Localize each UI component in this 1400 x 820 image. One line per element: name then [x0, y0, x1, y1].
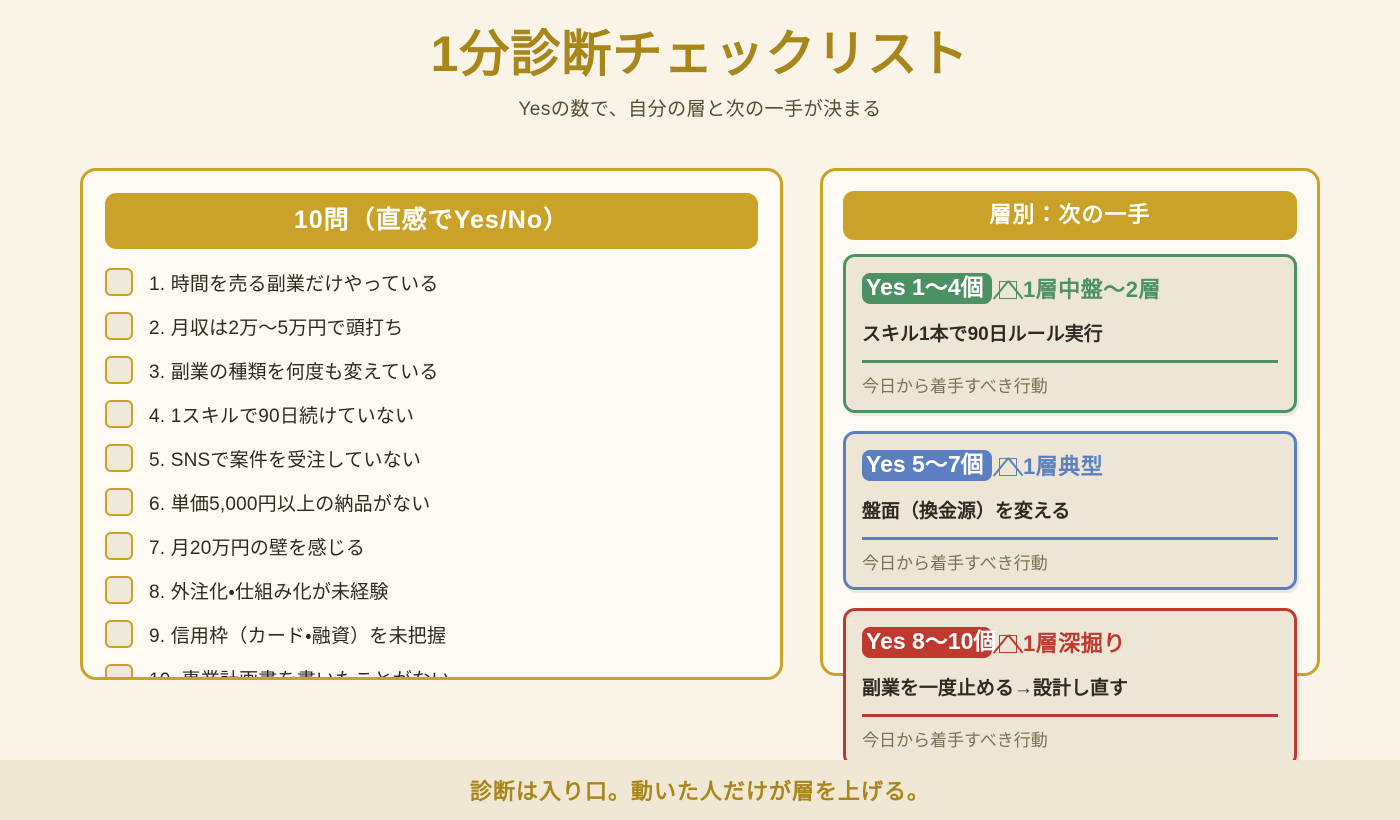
- tier-caption: 今日から着手すべき行動: [862, 372, 1278, 397]
- tier-badge-row: Yes 5〜7個1層典型: [862, 448, 1278, 482]
- page-subtitle: Yesの数で、自分の層と次の一手が決まる: [0, 94, 1400, 121]
- checkbox-icon[interactable]: [105, 268, 133, 296]
- checklist-item[interactable]: 8. 外注化・仕組み化が未経験: [105, 568, 758, 612]
- checklist-panel: 10問（直感でYes/No） 1. 時間を売る副業だけやっている2. 月収は2万…: [80, 168, 783, 680]
- tier-name: 1層深掘り: [999, 626, 1126, 658]
- tier-caption: 今日から着手すべき行動: [862, 726, 1278, 751]
- checklist-item-label: 2. 月収は2万〜5万円で頭打ち: [149, 313, 403, 340]
- checkbox-icon[interactable]: [105, 532, 133, 560]
- tier-divider: [862, 537, 1278, 540]
- tier-name-label: 1層中盤〜2層: [1023, 277, 1161, 302]
- checklist-item-label: 7. 月20万円の壁を感じる: [149, 533, 365, 560]
- tier-name: 1層中盤〜2層: [999, 272, 1161, 304]
- tier-card[interactable]: Yes 1〜4個1層中盤〜2層スキル1本で90日ルール実行今日から着手すべき行動: [843, 254, 1297, 413]
- tier-name-label: 1層深掘り: [1023, 631, 1126, 656]
- tier-card[interactable]: Yes 8〜10個1層深掘り副業を一度止める→設計し直す今日から着手すべき行動: [843, 608, 1297, 767]
- footer-band: 診断は入り口。動いた人だけが層を上げる。: [0, 760, 1400, 820]
- tier-badge-row: Yes 8〜10個1層深掘り: [862, 625, 1278, 659]
- tier-cards: Yes 1〜4個1層中盤〜2層スキル1本で90日ルール実行今日から着手すべき行動…: [843, 254, 1297, 767]
- checklist-item[interactable]: 9. 信用枠（カード・融資）を未把握: [105, 612, 758, 656]
- tier-badge: Yes 5〜7個: [862, 450, 992, 481]
- missing-glyph-icon: [999, 458, 1017, 476]
- checkbox-icon[interactable]: [105, 400, 133, 428]
- tier-divider: [862, 360, 1278, 363]
- board: 10問（直感でYes/No） 1. 時間を売る副業だけやっている2. 月収は2万…: [0, 168, 1400, 688]
- checklist-item[interactable]: 5. SNSで案件を受注していない: [105, 436, 758, 480]
- checklist-item-label: 9. 信用枠（カード・融資）を未把握: [149, 621, 446, 648]
- checklist-item-label: 5. SNSで案件を受注していない: [149, 445, 421, 472]
- page-header: 1分診断チェックリスト Yesの数で、自分の層と次の一手が決まる: [0, 0, 1400, 121]
- tier-name: 1層典型: [999, 449, 1103, 481]
- tiers-panel: 層別：次の一手 Yes 1〜4個1層中盤〜2層スキル1本で90日ルール実行今日か…: [820, 168, 1320, 676]
- checklist-item[interactable]: 4. 1スキルで90日続けていない: [105, 392, 758, 436]
- checklist-item[interactable]: 7. 月20万円の壁を感じる: [105, 524, 758, 568]
- checkbox-icon[interactable]: [105, 664, 133, 680]
- checklist-item-label: 1. 時間を売る副業だけやっている: [149, 269, 439, 296]
- tier-card[interactable]: Yes 5〜7個1層典型盤面（換金源）を変える今日から着手すべき行動: [843, 431, 1297, 590]
- checklist-item-label: 10. 事業計画書を書いたことがない: [149, 665, 450, 681]
- checklist-item[interactable]: 10. 事業計画書を書いたことがない: [105, 656, 758, 680]
- checkbox-icon[interactable]: [105, 444, 133, 472]
- checkbox-icon[interactable]: [105, 356, 133, 384]
- checklist-items: 1. 時間を売る副業だけやっている2. 月収は2万〜5万円で頭打ち3. 副業の種…: [105, 260, 758, 680]
- tier-action: 盤面（換金源）を変える: [862, 496, 1278, 523]
- tier-name-label: 1層典型: [1023, 454, 1103, 479]
- tier-action: スキル1本で90日ルール実行: [862, 319, 1278, 346]
- footer-text: 診断は入り口。動いた人だけが層を上げる。: [470, 774, 930, 806]
- checklist-item[interactable]: 6. 単価5,000円以上の納品がない: [105, 480, 758, 524]
- tier-divider: [862, 714, 1278, 717]
- tier-badge: Yes 8〜10個: [862, 627, 992, 658]
- missing-glyph-icon: [999, 635, 1017, 653]
- checklist-item[interactable]: 3. 副業の種類を何度も変えている: [105, 348, 758, 392]
- checklist-item-label: 4. 1スキルで90日続けていない: [149, 401, 414, 428]
- tier-badge: Yes 1〜4個: [862, 273, 992, 304]
- checkbox-icon[interactable]: [105, 488, 133, 516]
- tiers-panel-header: 層別：次の一手: [843, 191, 1297, 240]
- tier-caption: 今日から着手すべき行動: [862, 549, 1278, 574]
- tier-action: 副業を一度止める→設計し直す: [862, 673, 1278, 700]
- checkbox-icon[interactable]: [105, 620, 133, 648]
- checkbox-icon[interactable]: [105, 576, 133, 604]
- checklist-item-label: 3. 副業の種類を何度も変えている: [149, 357, 439, 384]
- checklist-item[interactable]: 2. 月収は2万〜5万円で頭打ち: [105, 304, 758, 348]
- checklist-panel-header: 10問（直感でYes/No）: [105, 193, 758, 249]
- page-title: 1分診断チェックリスト: [431, 26, 970, 84]
- checkbox-icon[interactable]: [105, 312, 133, 340]
- checklist-item[interactable]: 1. 時間を売る副業だけやっている: [105, 260, 758, 304]
- checklist-item-label: 8. 外注化・仕組み化が未経験: [149, 577, 389, 604]
- checklist-item-label: 6. 単価5,000円以上の納品がない: [149, 489, 430, 516]
- tier-badge-row: Yes 1〜4個1層中盤〜2層: [862, 271, 1278, 305]
- missing-glyph-icon: [999, 281, 1017, 299]
